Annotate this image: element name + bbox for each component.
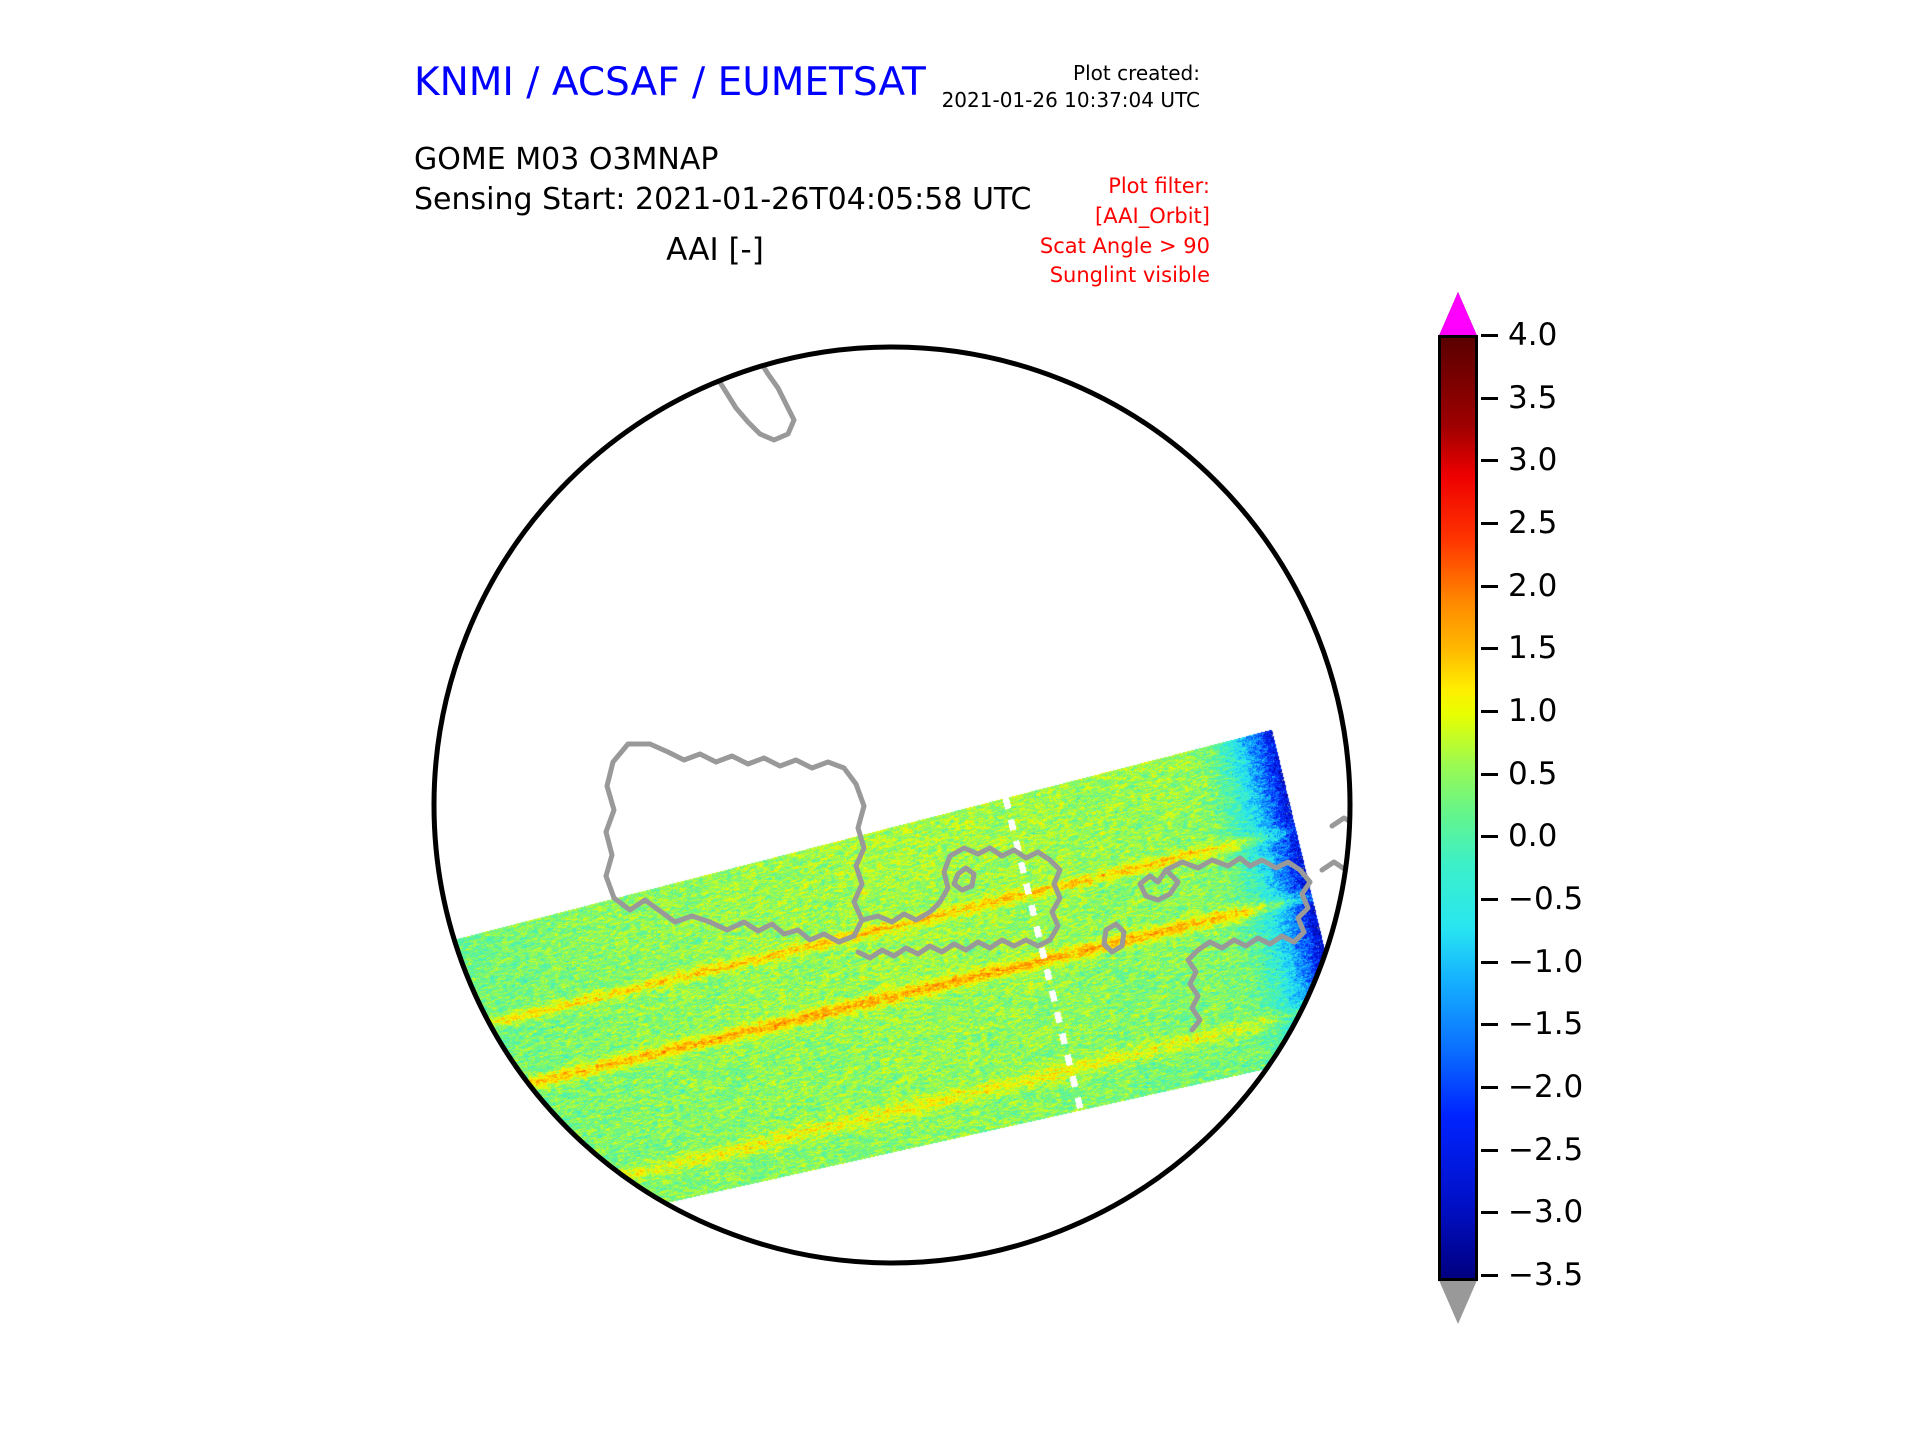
colorbar-tick — [1481, 522, 1498, 525]
polar-map — [392, 270, 1392, 1340]
plot-created-label: Plot created: — [942, 60, 1200, 87]
colorbar-gradient — [1441, 338, 1475, 1278]
colorbar-tick-label: 0.5 — [1508, 756, 1557, 792]
plot-filter-line: Scat Angle > 90 — [1040, 232, 1210, 262]
plot-filter-line: Plot filter: — [1040, 172, 1210, 202]
colorbar-tick-label: 4.0 — [1508, 317, 1557, 353]
colorbar-tick — [1481, 647, 1498, 650]
colorbar-tick-label: 1.0 — [1508, 693, 1557, 729]
colorbar-tick — [1481, 397, 1498, 400]
plot-created-block: Plot created: 2021-01-26 10:37:04 UTC — [942, 60, 1200, 114]
colorbar: 4.03.53.02.52.01.51.00.50.0−0.5−1.0−1.5−… — [1430, 270, 1850, 1340]
colorbar-tick — [1481, 1023, 1498, 1026]
colorbar-tick — [1481, 1211, 1498, 1214]
plot-created-value: 2021-01-26 10:37:04 UTC — [942, 87, 1200, 114]
colorbar-tick-label: 3.0 — [1508, 442, 1557, 478]
colorbar-tick-label: 2.0 — [1508, 568, 1557, 604]
colorbar-tick-label: 3.5 — [1508, 380, 1557, 416]
colorbar-tick — [1481, 835, 1498, 838]
product-name: GOME M03 O3MNAP — [414, 140, 1031, 180]
colorbar-tick — [1481, 1274, 1498, 1277]
colorbar-tick-label: 0.0 — [1508, 818, 1557, 854]
colorbar-tick — [1481, 1149, 1498, 1152]
page-title: AAI [-] — [0, 232, 1430, 268]
colorbar-tick-label: −0.5 — [1508, 881, 1583, 917]
product-info-block: GOME M03 O3MNAP Sensing Start: 2021-01-2… — [414, 140, 1031, 219]
organisation-title: KNMI / ACSAF / EUMETSAT — [414, 60, 926, 105]
colorbar-tick — [1481, 710, 1498, 713]
colorbar-tick-label: −3.5 — [1508, 1257, 1583, 1293]
colorbar-tick-label: −1.5 — [1508, 1006, 1583, 1042]
map-panel — [392, 270, 1392, 1340]
colorbar-tick-label: −3.0 — [1508, 1194, 1583, 1230]
colorbar-under-arrow — [1438, 1278, 1478, 1324]
sensing-start: Sensing Start: 2021-01-26T04:05:58 UTC — [414, 180, 1031, 220]
colorbar-tick — [1481, 334, 1498, 337]
colorbar-tick — [1481, 773, 1498, 776]
colorbar-tick-label: 1.5 — [1508, 630, 1557, 666]
colorbar-tick — [1481, 459, 1498, 462]
colorbar-tick — [1481, 585, 1498, 588]
colorbar-tick-label: −1.0 — [1508, 944, 1583, 980]
colorbar-bar — [1438, 335, 1478, 1281]
colorbar-tick — [1481, 1086, 1498, 1089]
colorbar-tick-label: −2.5 — [1508, 1132, 1583, 1168]
colorbar-tick-label: −2.0 — [1508, 1069, 1583, 1105]
satellite-swath — [392, 270, 1392, 1340]
colorbar-over-arrow — [1438, 292, 1478, 338]
colorbar-tick — [1481, 961, 1498, 964]
colorbar-tick-label: 2.5 — [1508, 505, 1557, 541]
colorbar-tick — [1481, 898, 1498, 901]
plot-filter-line: [AAI_Orbit] — [1040, 202, 1210, 232]
